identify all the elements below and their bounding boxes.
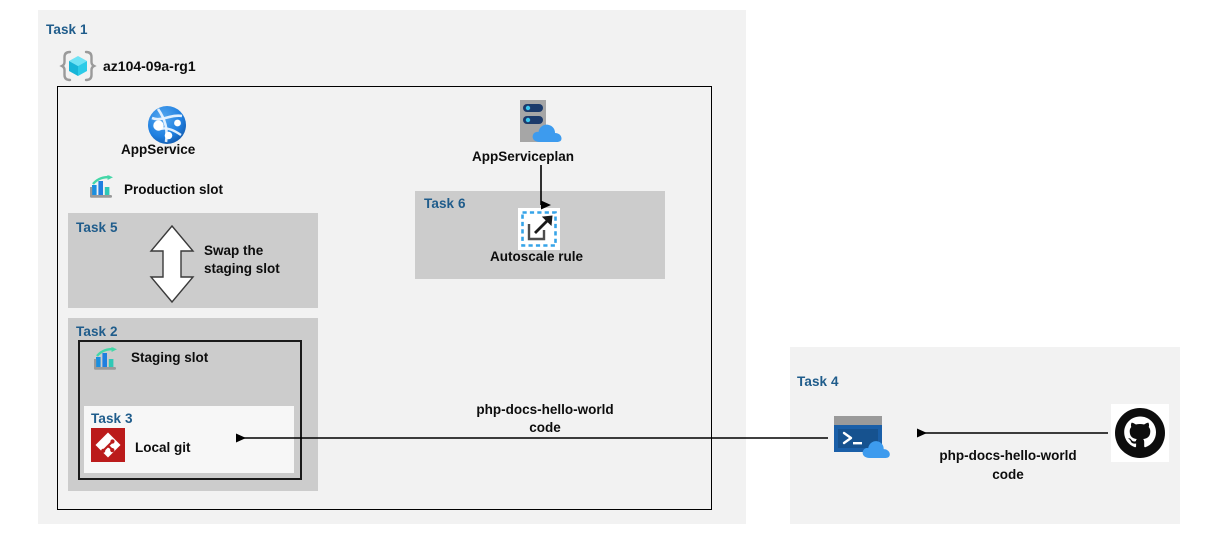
shell-to-git-label-line1: php-docs-hello-world: [462, 402, 628, 418]
staging-slot-label: Staging slot: [131, 350, 208, 366]
swap-arrow-icon: [148, 224, 196, 304]
task2-label: Task 2: [76, 324, 118, 339]
github-icon: [1111, 404, 1169, 462]
autoscale-rule-label: Autoscale rule: [490, 249, 583, 265]
autoscale-icon: [518, 208, 560, 250]
resource-group-icon: [60, 50, 96, 82]
diagram-canvas: Task 1 az104-09a-rg1: [0, 0, 1218, 545]
app-service-plan-label: AppServiceplan: [472, 149, 574, 165]
deployment-slot-icon-production: [88, 175, 116, 201]
deployment-slot-icon-staging: [92, 347, 120, 373]
resource-group-label: az104-09a-rg1: [103, 58, 196, 75]
task5-label: Task 5: [76, 220, 118, 235]
app-service-icon: [145, 103, 189, 147]
github-to-shell-label-line2: code: [925, 467, 1091, 483]
shell-to-git-label-line2: code: [462, 420, 628, 436]
swap-note-line1: Swap the: [204, 243, 263, 259]
task3-label: Task 3: [91, 411, 133, 426]
app-service-label: AppService: [121, 142, 195, 158]
production-slot-label: Production slot: [124, 182, 223, 198]
github-to-shell-label-line1: php-docs-hello-world: [925, 448, 1091, 464]
app-service-plan-icon: [512, 98, 568, 148]
git-icon: [91, 428, 125, 462]
local-git-label: Local git: [135, 440, 191, 456]
task4-label: Task 4: [797, 374, 839, 389]
task6-label: Task 6: [424, 196, 466, 211]
task1-label: Task 1: [46, 22, 88, 37]
cloud-shell-icon: [832, 414, 894, 460]
swap-note-line2: staging slot: [204, 261, 280, 277]
